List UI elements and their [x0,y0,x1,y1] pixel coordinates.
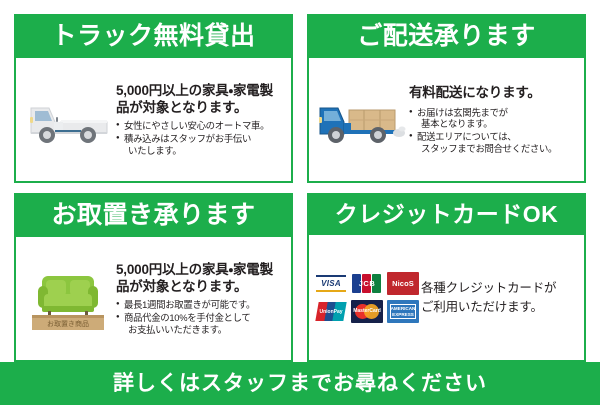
headline-layaway: 5,000円以上の家具・家電製品が対象となります。 [116,261,285,296]
panel-header-delivery: ご配送承ります [309,16,584,58]
service-banner: トラック無料貸出 [0,0,600,405]
visa-card-icon: VISA [315,272,347,295]
panel-header-credit-card: クレジットカードOK [309,195,584,235]
note-item: 商品代金の10%を手付金としてお支払いいただきます。 [116,312,285,335]
notes-delivery: お届けは玄関先までが基本となります。 配送エリアについては、スタッフまでお問合せ… [409,107,578,155]
headline-truck-rental: 5,000円以上の家具・家電製品が対象となります。 [116,82,285,117]
footer-banner: 詳しくはスタッフまでお尋ねください [0,362,600,405]
jcb-card-icon: JCB [351,272,383,295]
panel-body-credit-card: VISA JCB NicoS UnionPay [309,235,584,360]
panel-header-layaway: お取置き承ります [16,195,291,237]
panel-layaway: お取置き承ります お取置き商品 [14,193,293,362]
white-truck-icon [20,92,116,148]
amex-card-icon: AMERICAN EXPRESS [387,300,419,323]
panel-header-truck-rental: トラック無料貸出 [16,16,291,58]
headline-delivery: 有料配送になります。 [409,84,578,101]
copy-truck-rental: 5,000円以上の家具・家電製品が対象となります。 女性にやさしい安心のオートマ… [116,82,285,158]
panel-body-layaway: お取置き商品 5,000円以上の家具・家電製品が対象となります。 最長1週間お取… [16,237,291,360]
note-item: お届けは玄関先までが基本となります。 [409,107,578,130]
panel-grid: トラック無料貸出 [0,0,600,362]
nicos-card-icon: NicoS [387,272,419,295]
panel-body-truck-rental: 5,000円以上の家具・家電製品が対象となります。 女性にやさしい安心のオートマ… [16,58,291,181]
copy-layaway: 5,000円以上の家具・家電製品が対象となります。 最長1週間お取置きが可能です… [116,261,285,337]
unionpay-card-icon: UnionPay [315,300,347,323]
panel-credit-card: クレジットカードOK VISA JCB N [307,193,586,362]
blue-delivery-truck-icon [313,92,409,148]
note-item: 配送エリアについては、スタッフまでお問合せください。 [409,131,578,154]
credit-card-logos: VISA JCB NicoS UnionPay [313,272,421,323]
panel-delivery: ご配送承ります [307,14,586,183]
copy-credit-card: 各種クレジットカードが ご利用いただけます。 [421,279,578,315]
credit-card-text-line2: ご利用いただけます。 [421,298,578,316]
note-item: 女性にやさしい安心のオートマ車。 [116,120,285,132]
note-item: 積み込みはスタッフがお手伝いいたします。 [116,133,285,156]
notes-truck-rental: 女性にやさしい安心のオートマ車。 積み込みはスタッフがお手伝いいたします。 [116,120,285,156]
credit-card-text-line1: 各種クレジットカードが [421,279,578,297]
note-item: 最長1週間お取置きが可能です。 [116,299,285,311]
sofa-platform-label: お取置き商品 [47,319,89,328]
panel-truck-rental: トラック無料貸出 [14,14,293,183]
green-sofa-icon: お取置き商品 [20,264,116,334]
card-logo-grid: VISA JCB NicoS UnionPay [315,272,419,323]
notes-layaway: 最長1週間お取置きが可能です。 商品代金の10%を手付金としてお支払いいただきま… [116,299,285,335]
panel-body-delivery: 有料配送になります。 お届けは玄関先までが基本となります。 配送エリアについては… [309,58,584,181]
copy-delivery: 有料配送になります。 お届けは玄関先までが基本となります。 配送エリアについては… [409,84,578,156]
mastercard-card-icon: MasterCard [351,300,383,323]
